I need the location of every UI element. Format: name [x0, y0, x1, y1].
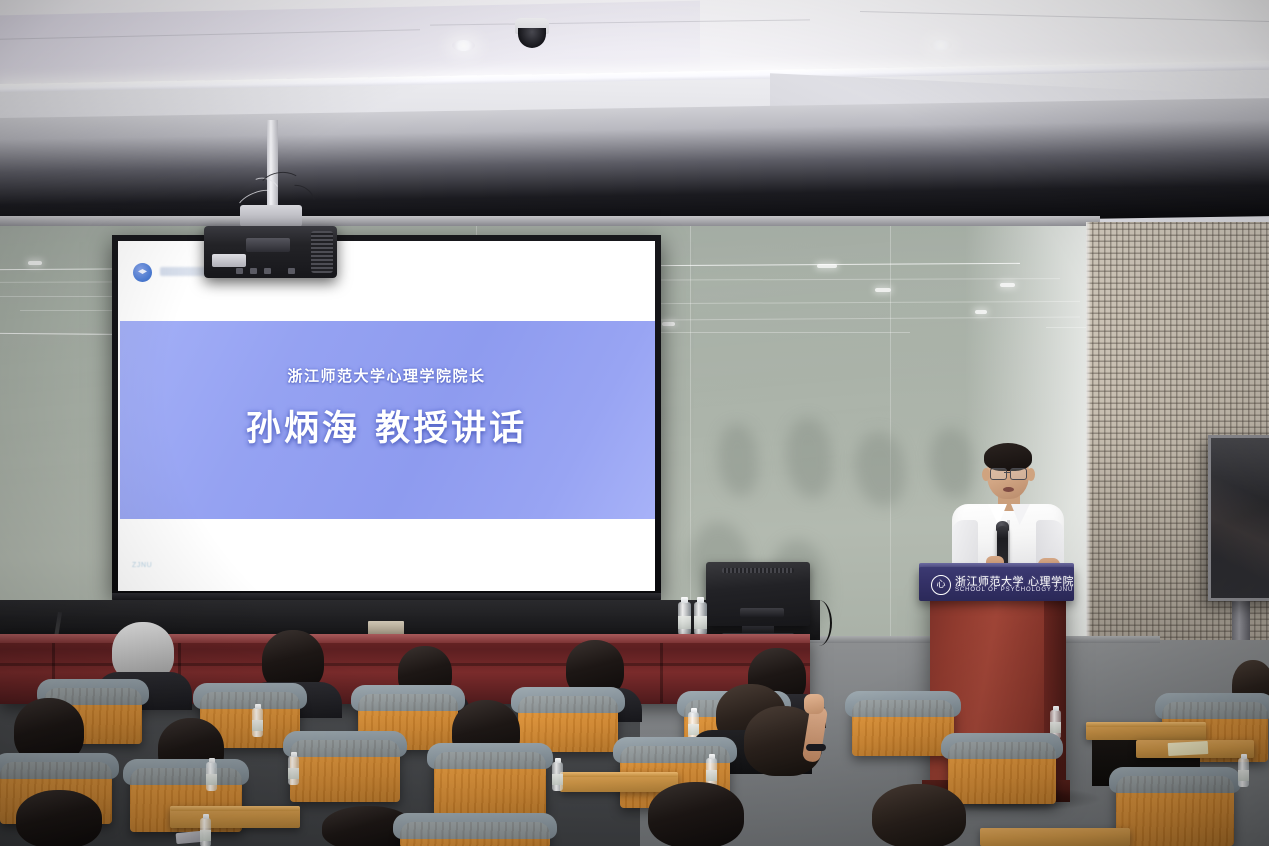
monitor-vent [722, 568, 794, 573]
raised-hand [804, 694, 824, 714]
projector-port [236, 268, 243, 274]
university-logo-icon [133, 263, 152, 282]
seat-wood-grain [400, 822, 550, 846]
slide-surface: 浙江师范大学心理学院院长 孙炳海 教授讲话 ZJNU [118, 241, 655, 591]
slide-top-margin [118, 241, 655, 321]
lecture-hall-photo: 浙江师范大学心理学院院长 孙炳海 教授讲话 ZJNU [0, 0, 1269, 846]
seat-desk-edge [560, 772, 678, 777]
audience-head [648, 782, 744, 846]
display-glare [1211, 438, 1269, 598]
wall-display-icon [1208, 435, 1269, 601]
slide-footer: ZJNU [132, 562, 152, 569]
zjnu-seal-icon: 心 [931, 575, 951, 595]
seat-wood-grain [434, 752, 546, 816]
eyeglasses-icon [1010, 468, 1027, 480]
projector-port [288, 268, 295, 274]
slide-title: 孙炳海 教授讲话 [118, 400, 655, 451]
water-bottle [288, 756, 299, 785]
mobile-phone [176, 831, 203, 844]
seat-desk-edge [170, 806, 300, 811]
slide-subtitle: 浙江师范大学心理学院院长 [118, 365, 655, 386]
reflected-light [662, 322, 675, 326]
speaker-ear [982, 468, 990, 481]
seat-desk-edge [1086, 722, 1206, 727]
dome-camera-icon [515, 18, 549, 34]
bottle-label [678, 616, 691, 629]
bottle-label [200, 830, 211, 841]
desk-monitor [706, 562, 810, 626]
projection-screen: 浙江师范大学心理学院院长 孙炳海 教授讲话 ZJNU [112, 235, 661, 597]
lectern-org-name-en: SCHOOL OF PSYCHOLOGY ZJNU [955, 587, 1073, 593]
audience-head [872, 784, 966, 846]
seat-wood-grain [290, 740, 400, 802]
reflected-light [28, 261, 42, 265]
bottle-label [288, 768, 299, 779]
bottle-label [694, 616, 707, 629]
monitor-port-bay [740, 608, 784, 617]
auditorium-seat [290, 740, 400, 802]
bottle-label [252, 720, 263, 731]
notepad [1168, 741, 1209, 756]
projector-port [264, 268, 271, 274]
reflected-light [875, 288, 891, 292]
bottle-label [1050, 722, 1061, 733]
wall-top-rail [0, 216, 1100, 226]
water-bottle [552, 762, 563, 791]
water-bottle [678, 602, 691, 636]
auditorium-seat [400, 822, 550, 846]
eyeglasses-icon [990, 468, 1007, 480]
audience-head [16, 790, 102, 846]
desk-nameplate [368, 621, 404, 635]
wristband [806, 744, 826, 751]
seat-wood-grain [948, 742, 1056, 804]
seat-wood-grain [852, 700, 954, 756]
water-bottle [252, 708, 263, 737]
projector-panel [212, 254, 246, 267]
ceiling-projector-icon [204, 226, 337, 278]
projector-bracket [240, 205, 302, 227]
auditorium-seat [852, 700, 954, 756]
projector-vent [311, 231, 333, 273]
seat-wood-grain [1116, 776, 1234, 846]
auditorium-seat [1116, 776, 1234, 846]
water-bottle [200, 818, 211, 846]
projector-label-plate [246, 238, 290, 252]
glass-reflection-line [660, 332, 910, 333]
slide-bottom-margin [118, 519, 655, 591]
speaker-ear [1027, 468, 1035, 481]
downlight [452, 40, 475, 51]
projector-port [250, 268, 257, 274]
water-bottle [1238, 758, 1249, 787]
seat-desk [980, 828, 1130, 846]
bottle-label [688, 724, 699, 735]
auditorium-seat [948, 742, 1056, 804]
bottle-label [206, 774, 217, 785]
water-bottle [206, 762, 217, 791]
water-bottle [694, 602, 707, 636]
lectern-name-banner: 心 浙江师范大学 心理学院 SCHOOL OF PSYCHOLOGY ZJNU [919, 567, 1074, 601]
reflected-light [817, 264, 837, 268]
speaker-hair [984, 443, 1032, 471]
speaker-mouth [1003, 487, 1014, 492]
desk-panel-divider [660, 643, 663, 703]
eyeglasses-bridge [1004, 472, 1011, 473]
bottle-label [1238, 770, 1249, 781]
bottle-label [552, 774, 563, 785]
auditorium-seat [434, 752, 546, 816]
bottle-label [706, 770, 717, 781]
downlight [930, 40, 952, 50]
